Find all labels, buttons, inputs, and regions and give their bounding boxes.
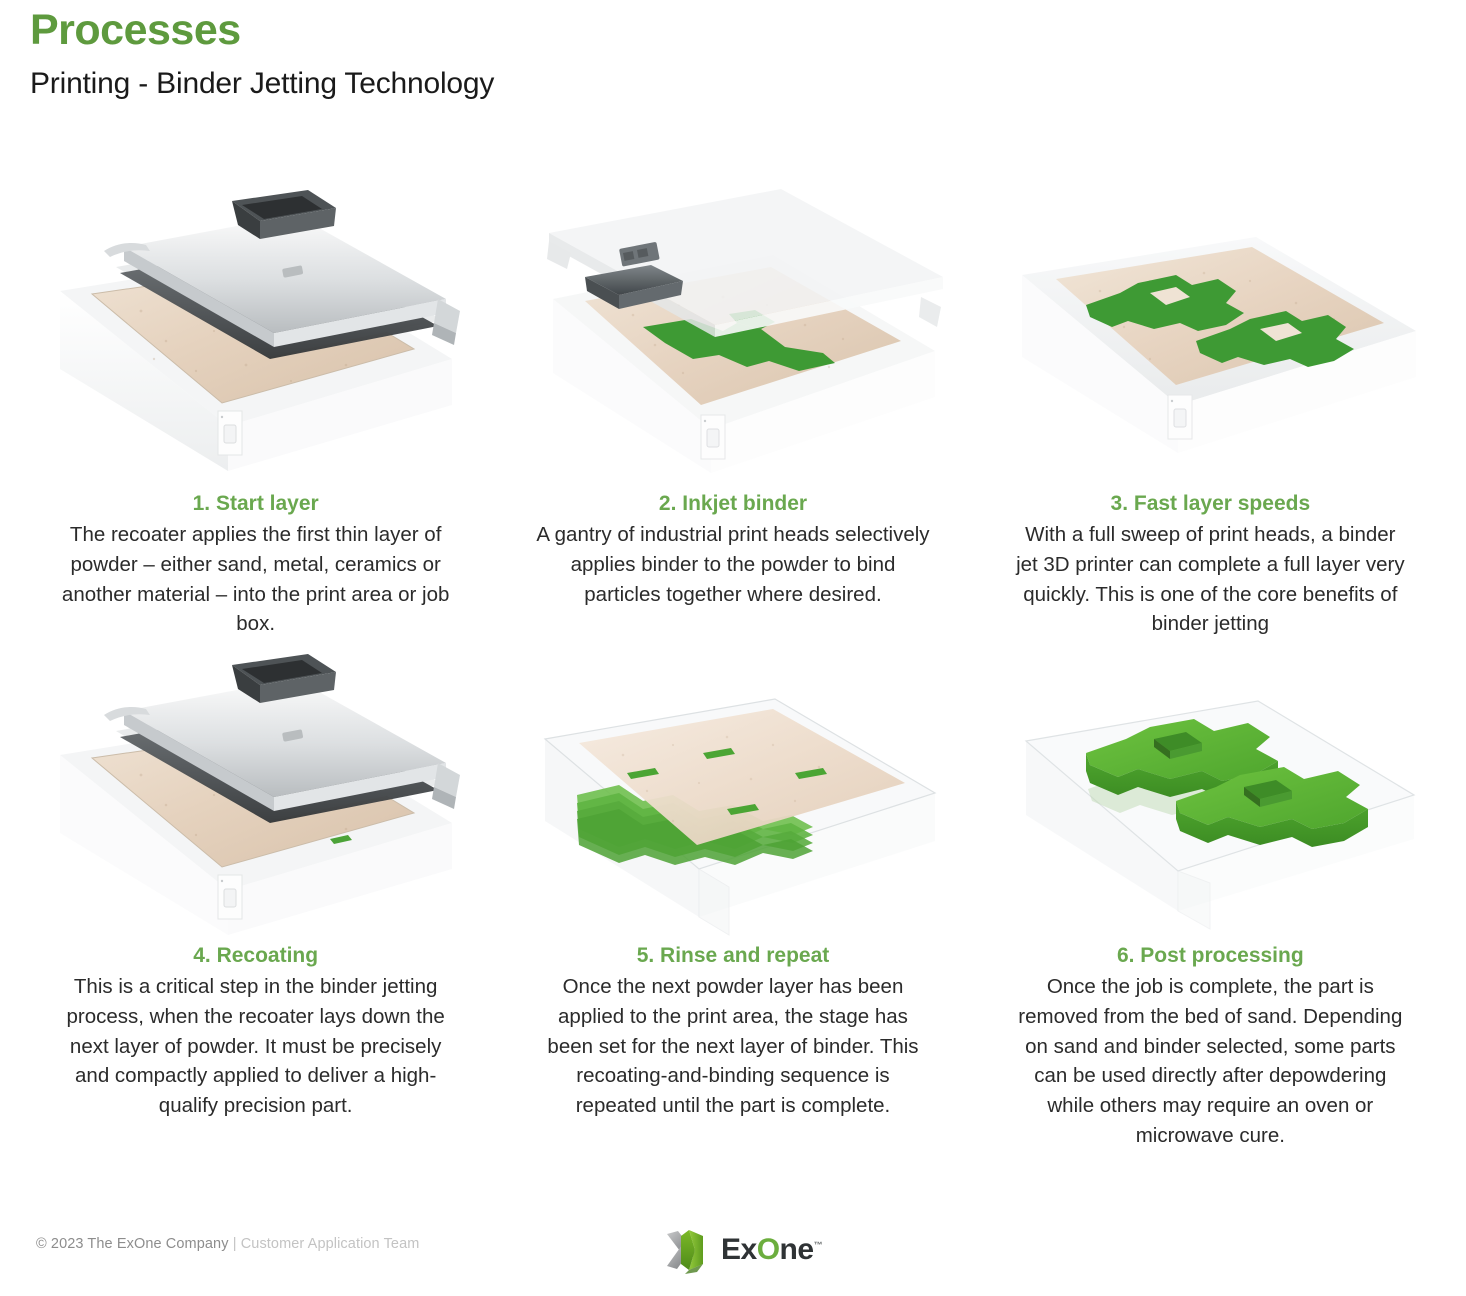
finished-green-parts-depowdered-figure (975, 643, 1446, 943)
binder-jet-printer-illustration-5 (523, 643, 943, 943)
page-title: Processes (30, 8, 494, 53)
exone-logo: ExOne™ (663, 1224, 822, 1276)
process-steps-grid: 1. Start layer The recoater applies the … (20, 176, 1446, 1151)
step-title: 3. Fast layer speeds (1111, 491, 1311, 516)
page-subtitle: Printing - Binder Jetting Technology (30, 67, 494, 100)
print-head-jetting-binder-onto-powder-figure (497, 176, 968, 491)
process-step-4: 4. Recoating This is a critical step in … (20, 643, 491, 1151)
stacked-bound-layers-in-job-box-figure (497, 643, 968, 943)
process-step-5: 5. Rinse and repeat Once the next powder… (497, 643, 968, 1151)
copyright-separator: | (229, 1236, 241, 1252)
slide-header: Processes Printing - Binder Jetting Tech… (30, 8, 494, 100)
step-title: 2. Inkjet binder (659, 491, 807, 516)
step-title: 5. Rinse and repeat (637, 943, 830, 968)
process-step-6: 6. Post processing Once the job is compl… (975, 643, 1446, 1151)
exone-x-mark-icon (663, 1224, 715, 1276)
binder-jet-printer-illustration-4 (46, 643, 466, 943)
completed-binder-layer-two-parts-figure (975, 176, 1446, 491)
step-title: 4. Recoating (193, 943, 318, 968)
logo-text-o: O (757, 1233, 780, 1266)
exone-wordmark: ExOne™ (721, 1233, 822, 1267)
process-step-1: 1. Start layer The recoater applies the … (20, 176, 491, 639)
logo-text-ne: ne (780, 1233, 814, 1266)
recoater-laying-next-powder-layer-figure (20, 643, 491, 943)
step-body: With a full sweep of print heads, a bind… (1013, 520, 1408, 639)
logo-text-ex: Ex (721, 1233, 757, 1266)
copyright-line: © 2023 The ExOne Company | Customer Appl… (36, 1236, 419, 1252)
step-body: A gantry of industrial print heads selec… (535, 520, 930, 609)
copyright-company: © 2023 The ExOne Company (36, 1236, 229, 1252)
step-body: The recoater applies the first thin laye… (58, 520, 453, 639)
process-step-2: 2. Inkjet binder A gantry of industrial … (497, 176, 968, 639)
trademark-symbol: ™ (814, 1240, 823, 1250)
step-title: 6. Post processing (1117, 943, 1304, 968)
recoater-spreading-first-powder-layer-figure (20, 176, 491, 491)
binder-jet-printer-illustration-2 (523, 181, 943, 486)
copyright-team: Customer Application Team (241, 1236, 420, 1252)
process-step-3: 3. Fast layer speeds With a full sweep o… (975, 176, 1446, 639)
binder-jet-printer-illustration-3 (1000, 181, 1420, 486)
step-title: 1. Start layer (193, 491, 319, 516)
binder-jet-printer-illustration-6 (1000, 643, 1420, 943)
step-body: Once the next powder layer has been appl… (535, 972, 930, 1121)
step-body: This is a critical step in the binder je… (58, 972, 453, 1121)
slide-footer: © 2023 The ExOne Company | Customer Appl… (0, 1228, 1466, 1288)
step-body: Once the job is complete, the part is re… (1013, 972, 1408, 1150)
binder-jet-printer-illustration-1 (46, 181, 466, 486)
slide-root: Processes Printing - Binder Jetting Tech… (0, 0, 1466, 1296)
